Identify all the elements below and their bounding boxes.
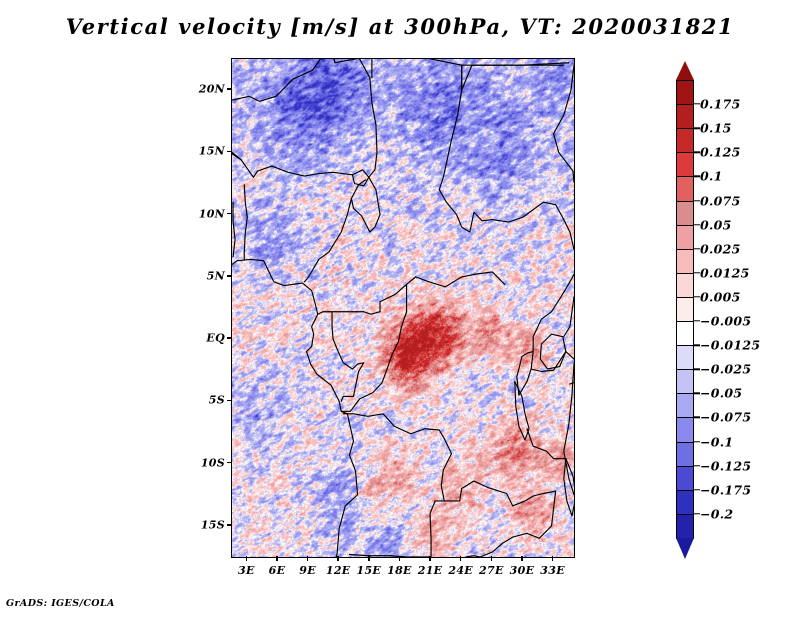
geo-boundary-line <box>349 555 430 557</box>
lon-tick-label: 18E <box>387 564 412 577</box>
colorbar-segment <box>676 514 694 539</box>
colorbar-segment <box>676 80 694 105</box>
colorbar-segment <box>676 128 694 153</box>
colorbar-label: 0.1 <box>700 169 723 184</box>
geo-boundary-line <box>517 352 533 396</box>
colorbar-label: 0.0125 <box>700 265 750 280</box>
colorbar-segment <box>676 369 694 394</box>
lon-tick-mark <box>368 556 369 561</box>
colorbar-tick-mark <box>694 489 700 490</box>
colorbar-segment <box>676 393 694 418</box>
colorbar-label: 0.075 <box>700 193 741 208</box>
lon-tick-mark <box>399 556 400 561</box>
lon-tick-mark <box>337 556 338 561</box>
geo-boundary-line <box>233 202 235 257</box>
colorbar-tick-mark <box>694 393 700 394</box>
colorbar-label: −0.075 <box>700 410 751 425</box>
geo-boundary-line <box>564 297 574 337</box>
colorbar-segment <box>676 225 694 250</box>
colorbar-tick-mark <box>694 103 700 104</box>
page-title: Vertical velocity [m/s] at 300hPa, VT: 2… <box>0 14 800 39</box>
geo-boundary-line <box>570 383 574 384</box>
colorbar-segment <box>676 273 694 298</box>
geo-boundary-line <box>554 65 574 182</box>
colorbar-tick-mark <box>694 417 700 418</box>
lon-tick-mark <box>521 556 522 561</box>
geo-boundary-line <box>430 501 444 557</box>
lon-tick-label: 12E <box>326 564 351 577</box>
lon-tick-label: 33E <box>540 564 565 577</box>
colorbar-label: −0.025 <box>700 362 751 377</box>
grads-attribution: GrADS: IGES/COLA <box>6 598 115 609</box>
lon-tick-label: 9E <box>299 564 316 577</box>
geo-boundary-line <box>232 154 352 178</box>
colorbar-segment <box>676 201 694 226</box>
geo-boundary-line <box>329 59 335 63</box>
map-plot-area <box>231 58 575 558</box>
lon-tick-label: 30E <box>510 564 535 577</box>
lon-tick-mark <box>307 556 308 561</box>
country-borders-overlay <box>232 59 574 557</box>
lat-tick-mark <box>227 275 232 276</box>
geo-boundary-line <box>564 459 574 516</box>
colorbar-label: 0.175 <box>700 97 741 112</box>
lon-tick-label: 3E <box>238 564 255 577</box>
colorbar-tick-mark <box>694 176 700 177</box>
colorbar-max-arrow <box>676 61 694 80</box>
geo-boundary-line <box>527 429 566 459</box>
geo-boundary-line <box>566 352 574 359</box>
colorbar-segment <box>676 466 694 491</box>
geo-boundary-line <box>439 90 492 232</box>
lon-tick-mark <box>552 556 553 561</box>
colorbar-tick-mark <box>694 200 700 201</box>
geo-boundary-line <box>351 177 380 232</box>
colorbar-segment <box>676 345 694 370</box>
lat-tick-label: EQ <box>189 332 225 345</box>
lat-tick-label: 10S <box>189 456 225 469</box>
geo-boundary-line <box>466 556 480 557</box>
colorbar-tick-mark <box>694 128 700 129</box>
colorbar-tick-mark <box>694 224 700 225</box>
colorbar-label: 0.05 <box>700 217 732 232</box>
lat-tick-label: 10N <box>189 207 225 220</box>
colorbar-label: 0.15 <box>700 121 732 136</box>
colorbar-tick-mark <box>694 465 700 466</box>
colorbar-segment <box>676 249 694 274</box>
colorbar-segment <box>676 321 694 346</box>
lat-tick-label: 15N <box>189 145 225 158</box>
geo-boundary-line <box>232 59 329 101</box>
colorbar-segment <box>676 176 694 201</box>
lon-tick-mark <box>429 556 430 561</box>
colorbar-min-arrow <box>676 538 694 559</box>
colorbar-segment <box>676 297 694 322</box>
colorbar-segment <box>676 490 694 515</box>
lon-tick-mark <box>491 556 492 561</box>
lat-tick-label: 5S <box>189 394 225 407</box>
lat-tick-mark <box>227 462 232 463</box>
geo-boundary-line <box>364 302 380 314</box>
geo-boundary-line <box>533 274 574 351</box>
colorbar-tick-mark <box>694 296 700 297</box>
lon-tick-mark <box>460 556 461 561</box>
lat-tick-mark <box>227 524 232 525</box>
geo-boundary-line <box>332 312 364 402</box>
lat-tick-mark <box>227 400 232 401</box>
lon-tick-label: 6E <box>269 564 286 577</box>
colorbar-label: −0.1 <box>700 434 733 449</box>
lon-tick-mark <box>276 556 277 561</box>
geo-boundary-line <box>318 312 364 314</box>
colorbar-label: 0.125 <box>700 145 741 160</box>
geo-boundary-line <box>492 202 574 249</box>
colorbar-tick-mark <box>694 320 700 321</box>
colorbar-label: 0.025 <box>700 241 741 256</box>
colorbar-tick-mark <box>694 513 700 514</box>
geo-boundary-line <box>244 185 247 260</box>
lon-tick-label: 15E <box>357 564 382 577</box>
geo-boundary-line <box>462 481 556 557</box>
geo-boundary-line <box>237 259 357 557</box>
colorbar-segment <box>676 417 694 442</box>
colorbar-tick-mark <box>694 369 700 370</box>
geo-boundary-line <box>540 334 566 369</box>
geo-boundary-line <box>232 261 237 265</box>
geo-boundary-line <box>380 272 505 302</box>
colorbar-label: −0.005 <box>700 314 751 329</box>
colorbar-tick-mark <box>694 152 700 153</box>
colorbar-label: −0.125 <box>700 458 751 473</box>
geo-boundary-line <box>343 414 461 501</box>
lon-tick-label: 27E <box>479 564 504 577</box>
geo-boundary-line <box>232 152 241 159</box>
colorbar: 0.1750.150.1250.10.0750.050.0250.01250.0… <box>676 62 694 556</box>
colorbar-tick-mark <box>694 272 700 273</box>
lon-tick-label: 24E <box>448 564 473 577</box>
colorbar-segment <box>676 442 694 467</box>
geo-boundary-line <box>304 198 351 281</box>
lat-tick-label: 15S <box>189 518 225 531</box>
colorbar-tick-mark <box>694 248 700 249</box>
colorbar-label: −0.175 <box>700 482 751 497</box>
colorbar-label: −0.0125 <box>700 338 760 353</box>
colorbar-label: −0.2 <box>700 506 733 521</box>
geo-boundary-line <box>329 59 569 90</box>
lat-tick-mark <box>227 88 232 89</box>
lat-tick-label: 20N <box>189 83 225 96</box>
lat-tick-mark <box>227 337 232 338</box>
colorbar-tick-mark <box>694 441 700 442</box>
colorbar-tick-mark <box>694 344 700 345</box>
lat-tick-mark <box>227 213 232 214</box>
colorbar-label: 0.005 <box>700 289 741 304</box>
colorbar-segment <box>676 152 694 177</box>
colorbar-label: −0.05 <box>700 386 742 401</box>
geo-boundary-line <box>341 284 406 411</box>
geo-boundary-line <box>360 59 377 177</box>
lon-tick-label: 21E <box>418 564 443 577</box>
colorbar-segment <box>676 104 694 129</box>
lat-tick-label: 5N <box>189 269 225 282</box>
lat-tick-mark <box>227 151 232 152</box>
lon-tick-mark <box>246 556 247 561</box>
